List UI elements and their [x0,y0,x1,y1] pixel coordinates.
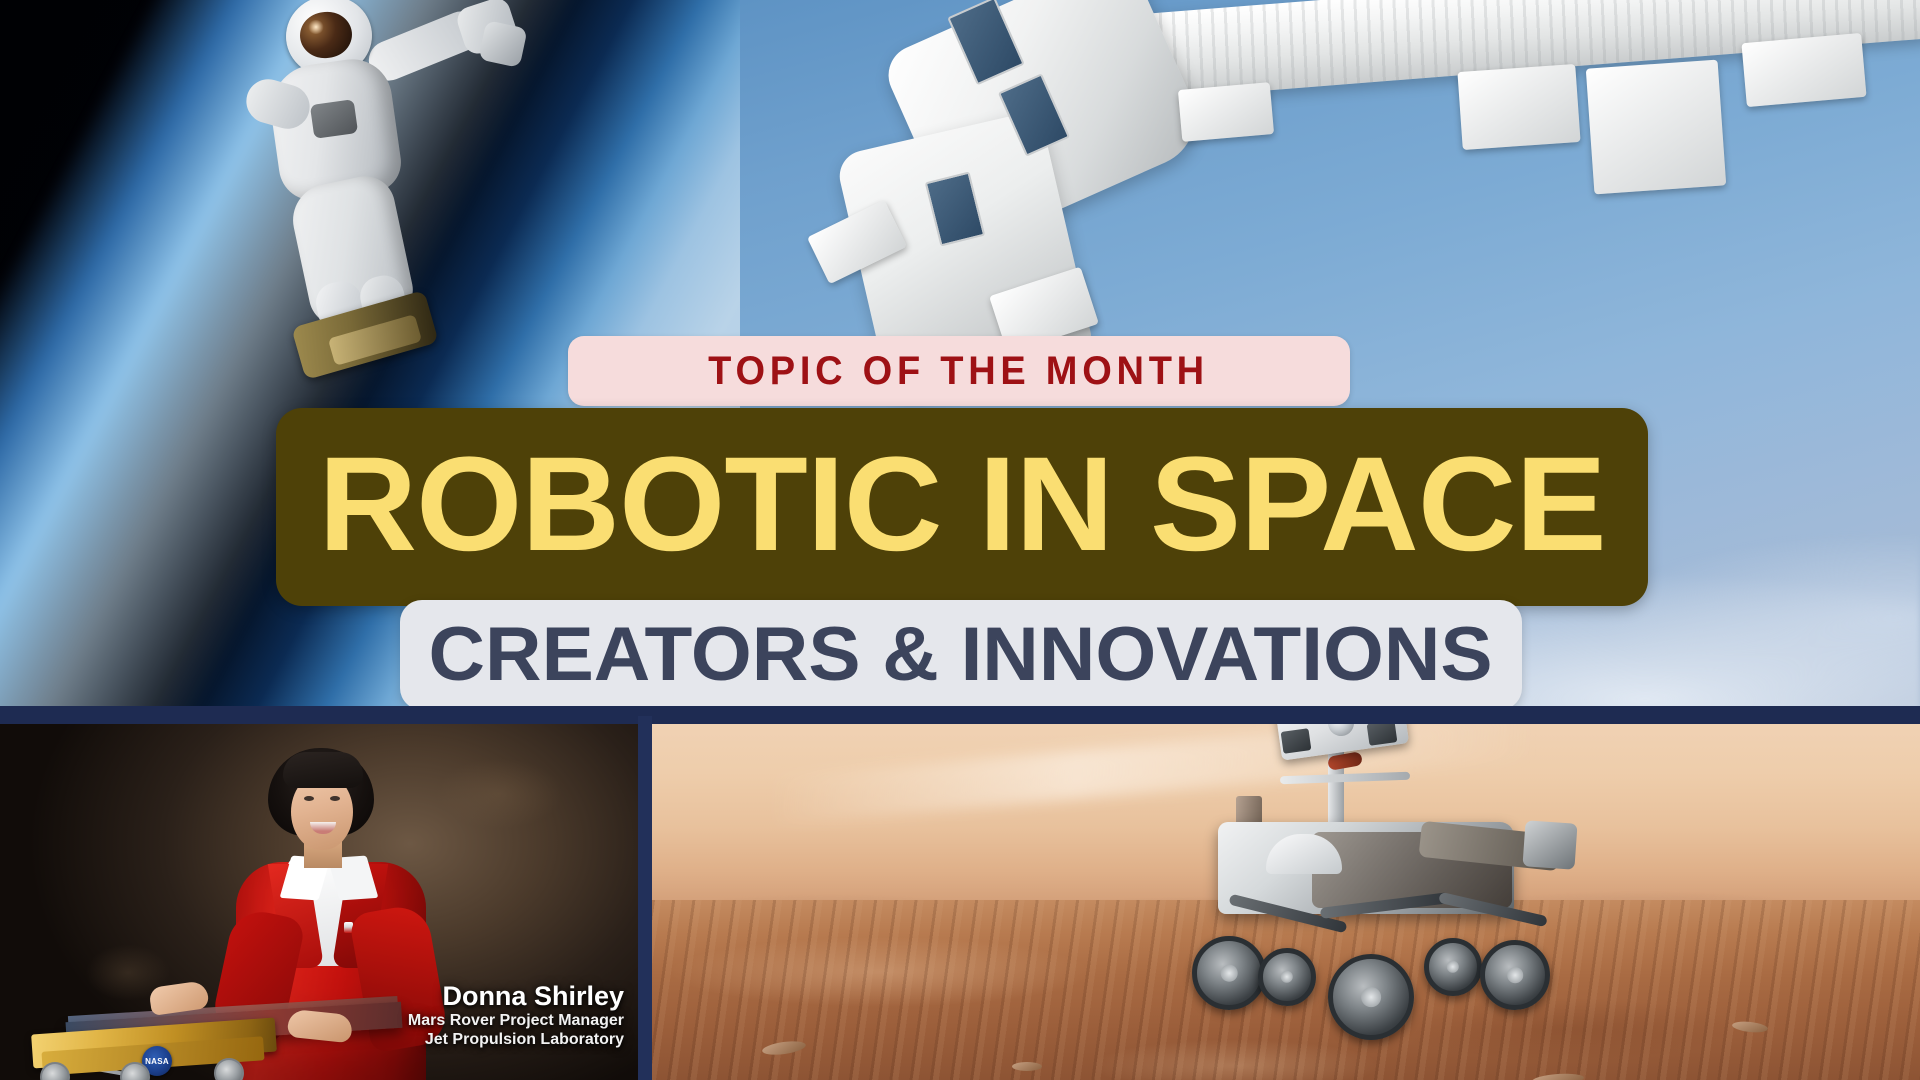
title-banner: ROBOTIC IN SPACE [276,408,1648,606]
astronaut-visor-glint [308,20,324,34]
rover-wheel [1192,936,1266,1010]
perseverance-rover [1132,722,1602,1066]
rover-wheel [1328,954,1414,1040]
arm-end-effector [1586,60,1726,195]
mars-rover-panel [652,722,1920,1080]
vertical-divider [638,716,652,1080]
caption-organization: Jet Propulsion Laboratory [408,1030,624,1050]
caption-role: Mars Rover Project Manager [408,1011,624,1031]
rover-camera-left [1281,728,1312,754]
astronaut-chest-control-unit [310,99,358,139]
horizontal-divider [0,706,1920,724]
astronaut-glove [478,20,527,68]
poster-root: TOPIC OF THE MONTH ROBOTIC IN SPACE CREA… [0,0,1920,1080]
arm-fitting [1457,64,1580,150]
eyebrow-label: TOPIC OF THE MONTH [709,349,1210,394]
portrait-caption: Donna Shirley Mars Rover Project Manager… [408,982,624,1050]
hero-space-image: TOPIC OF THE MONTH ROBOTIC IN SPACE CREA… [0,0,1920,716]
rover-mast-crossbar [1280,772,1410,785]
rover-model-wheel [214,1058,244,1080]
astronaut-spacewalk-figure [238,0,568,360]
caption-name: Donna Shirley [408,982,624,1011]
page-subtitle: CREATORS & INNOVATIONS [429,617,1493,693]
arm-fitting [1178,82,1274,142]
subtitle-banner: CREATORS & INNOVATIONS [400,600,1522,710]
rover-wheel [1258,948,1316,1006]
hair-fringe [283,752,363,788]
arm-fitting [1741,33,1866,107]
nasa-logo-text: NASA [145,1057,169,1066]
eye-right [330,796,340,801]
rover-wheel [1480,940,1550,1010]
sojourner-rover-model: NASA [24,1022,294,1080]
eyebrow-banner: TOPIC OF THE MONTH [568,336,1350,406]
mars-rock [1012,1062,1042,1071]
rover-wheel [1424,938,1482,996]
page-title: ROBOTIC IN SPACE [318,438,1605,572]
donna-shirley-panel: NASA Donna Shirley Mars Rover Project Ma… [0,722,640,1080]
rover-arm-turret [1522,820,1577,870]
eye-left [304,796,314,801]
rover-camera-right [1367,722,1398,746]
